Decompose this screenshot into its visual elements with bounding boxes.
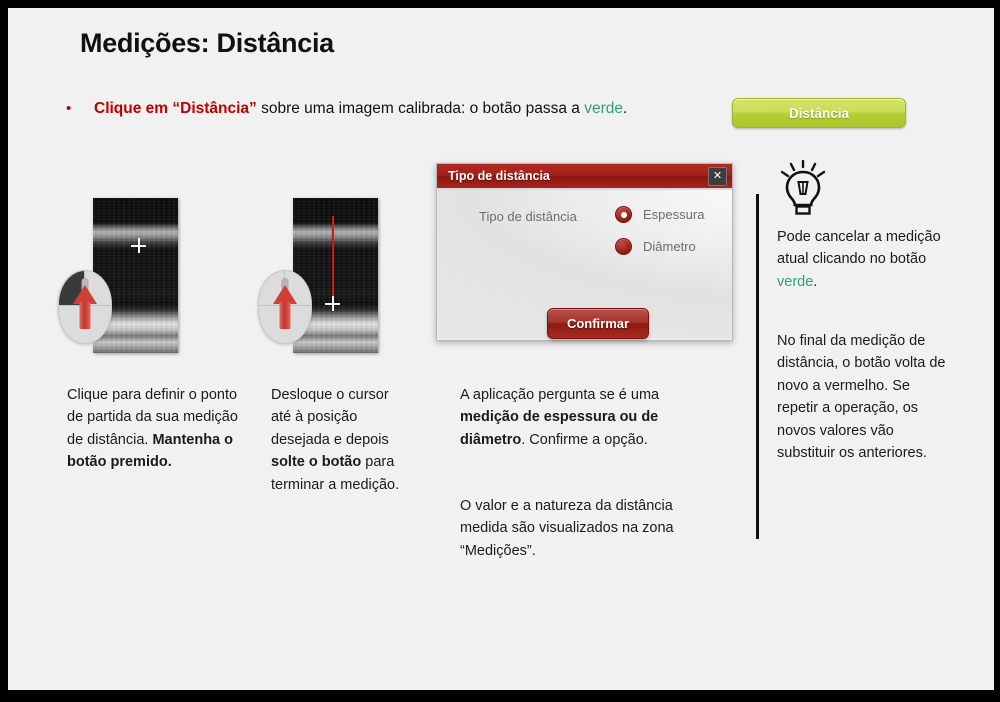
bullet-lead: Clique em “Distância” <box>94 100 257 117</box>
radio-option-espessura[interactable]: Espessura <box>615 206 704 223</box>
caption-4-plain: O valor e a natureza da distância medida… <box>460 498 674 559</box>
tip-1-plain-b: . <box>813 274 817 290</box>
close-icon[interactable]: ✕ <box>708 167 727 186</box>
tip-repeat-measurement: No final da medição de distância, o botã… <box>777 330 955 465</box>
up-arrow-icon <box>70 285 100 329</box>
caption-result: O valor e a natureza da distância medida… <box>460 495 692 562</box>
radio-option-diametro[interactable]: Diâmetro <box>615 238 696 255</box>
caption-dialog: A aplicação pergunta se é uma medição de… <box>460 384 692 451</box>
caption-2-bold: solte o botão <box>271 454 361 470</box>
dialog-field-label: Tipo de distância <box>479 209 577 224</box>
mouse-icon-pressed <box>58 270 112 344</box>
bullet-highlight: verde <box>584 100 623 117</box>
confirmar-button-label: Confirmar <box>567 316 629 331</box>
caption-3-plain-a: A aplicação pergunta se é uma <box>460 387 659 403</box>
confirmar-button[interactable]: Confirmar <box>547 308 649 339</box>
caption-2-plain-a: Desloque o cursor até à posição desejada… <box>271 387 389 448</box>
dialog-body: Tipo de distância Espessura Diâmetro Con… <box>437 190 732 338</box>
radio-label-diametro: Diâmetro <box>643 239 696 254</box>
dialog-title: Tipo de distância <box>448 169 550 183</box>
slide-canvas: Medições: Distância • Clique em “Distânc… <box>8 8 994 690</box>
up-arrow-icon <box>270 285 300 329</box>
distancia-button[interactable]: Distância <box>732 98 906 128</box>
crosshair-icon <box>131 238 146 253</box>
tipo-de-distancia-dialog: Tipo de distância ✕ Tipo de distância Es… <box>436 163 733 341</box>
radio-icon-unselected[interactable] <box>615 238 632 255</box>
tip-2-plain: No final da medição de distância, o botã… <box>777 333 945 461</box>
tip-cancel-measurement: Pode cancelar a medição atual clicando n… <box>777 226 955 293</box>
radio-icon-selected[interactable] <box>615 206 632 223</box>
distancia-button-label: Distância <box>789 106 849 121</box>
close-icon-glyph: ✕ <box>713 171 722 182</box>
mouse-icon-released <box>258 270 312 344</box>
bullet-middle: sobre uma imagem calibrada: o botão pass… <box>257 100 584 117</box>
caption-start-point: Clique para definir o ponto de partida d… <box>67 384 239 474</box>
bullet-marker-icon: • <box>66 100 94 117</box>
page-title: Medições: Distância <box>80 28 334 59</box>
radio-label-espessura: Espessura <box>643 207 704 222</box>
measurement-line <box>332 216 334 304</box>
tip-1-highlight: verde <box>777 274 813 290</box>
bullet-text: Clique em “Distância” sobre uma imagem c… <box>94 100 627 118</box>
lightbulb-icon <box>778 160 828 223</box>
caption-3-plain-b: . Confirme a opção. <box>521 432 648 448</box>
bullet-row: • Clique em “Distância” sobre uma imagem… <box>66 100 627 118</box>
dialog-titlebar: Tipo de distância ✕ <box>437 164 732 190</box>
arrow-stem <box>80 302 91 329</box>
vertical-divider <box>756 194 759 539</box>
arrow-stem <box>280 302 291 329</box>
tip-1-plain-a: Pode cancelar a medição atual clicando n… <box>777 229 941 267</box>
bullet-tail: . <box>623 100 627 117</box>
caption-end-point: Desloque o cursor até à posição desejada… <box>271 384 411 496</box>
